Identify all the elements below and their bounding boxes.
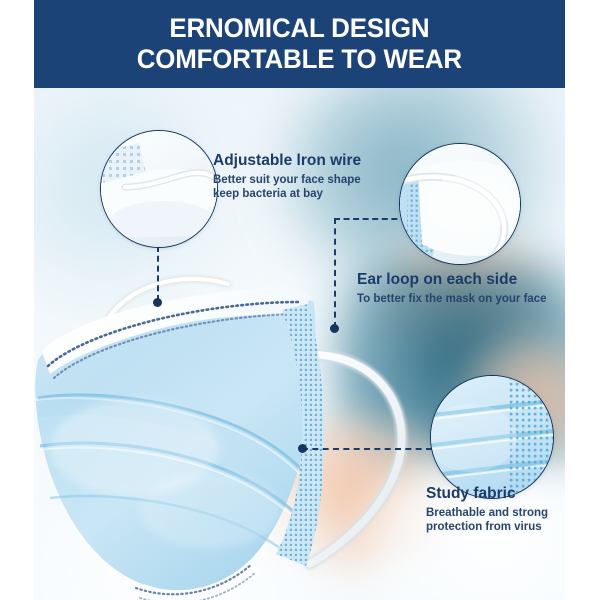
connector-dot-iron-wire <box>153 298 162 307</box>
callout-body-study-fabric-line1: Breathable and strong <box>426 506 548 520</box>
callout-body-study-fabric-line2: protection from virus <box>426 520 548 534</box>
callout-title-iron-wire: Adjustable lron wire <box>213 151 361 170</box>
callout-text-study-fabric: Study fabric Breathable and strong prote… <box>426 484 548 534</box>
header-title-line-2: COMFORTABLE TO WEAR <box>137 44 462 75</box>
connector-line-study-fabric <box>302 448 432 450</box>
callout-circle-ear-loop <box>399 143 521 265</box>
callout-text-ear-loop: Ear loop on each side To better fix the … <box>357 270 547 306</box>
poster-header: ERNOMICAL DESIGN COMFORTABLE TO WEAR <box>34 0 565 88</box>
connector-dot-study-fabric <box>298 444 307 453</box>
header-title-line-1: ERNOMICAL DESIGN <box>169 13 429 44</box>
callout-circle-study-fabric <box>430 375 554 499</box>
callout-body-ear-loop-line1: To better fix the mask on your face <box>357 292 547 306</box>
callout-text-iron-wire: Adjustable lron wire Better suit your fa… <box>213 151 361 201</box>
connector-dot-ear-loop <box>330 324 339 333</box>
product-photo-stage: Adjustable lron wire Better suit your fa… <box>34 88 565 600</box>
callout-body-iron-wire-line2: keep bacteria at bay <box>213 187 361 201</box>
callout-title-study-fabric: Study fabric <box>426 484 548 503</box>
callout-title-ear-loop: Ear loop on each side <box>357 270 547 289</box>
connector-line-iron-wire <box>157 246 159 301</box>
product-feature-poster: ERNOMICAL DESIGN COMFORTABLE TO WEAR <box>0 0 600 600</box>
connector-line-ear-loop <box>334 218 336 328</box>
callout-circle-iron-wire <box>100 130 218 248</box>
callout-body-iron-wire-line1: Better suit your face shape <box>213 173 361 187</box>
